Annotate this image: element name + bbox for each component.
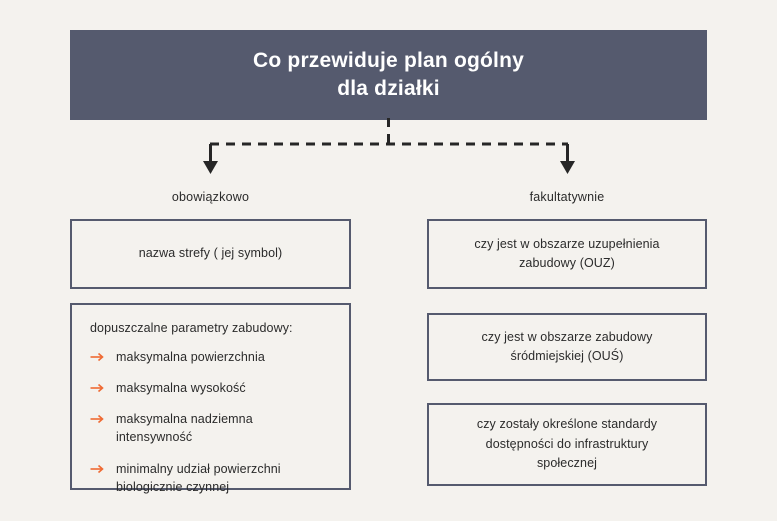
list-item: minimalny udział powierzchni biologiczni… — [90, 460, 335, 496]
list-item-label: maksymalna nadziemna intensywność — [116, 410, 253, 446]
arrow-right-icon — [90, 383, 106, 393]
box-building-parameters: dopuszczalne parametry zabudowy: maksyma… — [70, 303, 351, 490]
connector-group — [0, 118, 777, 190]
list-item: maksymalna wysokość — [90, 379, 335, 397]
list-item-label: minimalny udział powierzchni biologiczni… — [116, 460, 281, 496]
box-supplementary-development-area: czy jest w obszarze uzupełnienia zabudow… — [427, 219, 707, 289]
diagram-canvas: Co przewiduje plan ogólny dla działki ob… — [0, 0, 777, 521]
parameters-content: dopuszczalne parametry zabudowy: maksyma… — [72, 305, 349, 496]
parameters-heading: dopuszczalne parametry zabudowy: — [90, 321, 335, 335]
page-title: Co przewiduje plan ogólny dla działki — [253, 47, 524, 104]
parameters-list: maksymalna powierzchnia maksymalna wysok… — [90, 348, 335, 496]
box-social-infrastructure-standards: czy zostały określone standardy dostępno… — [427, 403, 707, 486]
list-item: maksymalna powierzchnia — [90, 348, 335, 366]
list-item-label: maksymalna wysokość — [116, 379, 246, 397]
box-social-infrastructure-standards-text: czy zostały określone standardy dostępno… — [463, 415, 671, 473]
box-downtown-development-area-text: czy jest w obszarze zabudowy śródmiejski… — [468, 328, 667, 367]
arrowhead-right-icon — [560, 161, 575, 174]
arrow-right-icon — [90, 464, 106, 474]
box-zone-name-text: nazwa strefy ( jej symbol) — [125, 244, 297, 263]
arrowhead-left-icon — [203, 161, 218, 174]
arrow-right-icon — [90, 352, 106, 362]
list-item-label: maksymalna powierzchnia — [116, 348, 265, 366]
branch-label-mandatory: obowiązkowo — [70, 190, 351, 204]
list-item: maksymalna nadziemna intensywność — [90, 410, 335, 446]
box-supplementary-development-area-text: czy jest w obszarze uzupełnienia zabudow… — [460, 235, 673, 274]
diagram-header: Co przewiduje plan ogólny dla działki — [70, 30, 707, 120]
box-zone-name: nazwa strefy ( jej symbol) — [70, 219, 351, 289]
branch-label-optional: fakultatywnie — [427, 190, 707, 204]
arrow-right-icon — [90, 414, 106, 424]
box-downtown-development-area: czy jest w obszarze zabudowy śródmiejski… — [427, 313, 707, 381]
